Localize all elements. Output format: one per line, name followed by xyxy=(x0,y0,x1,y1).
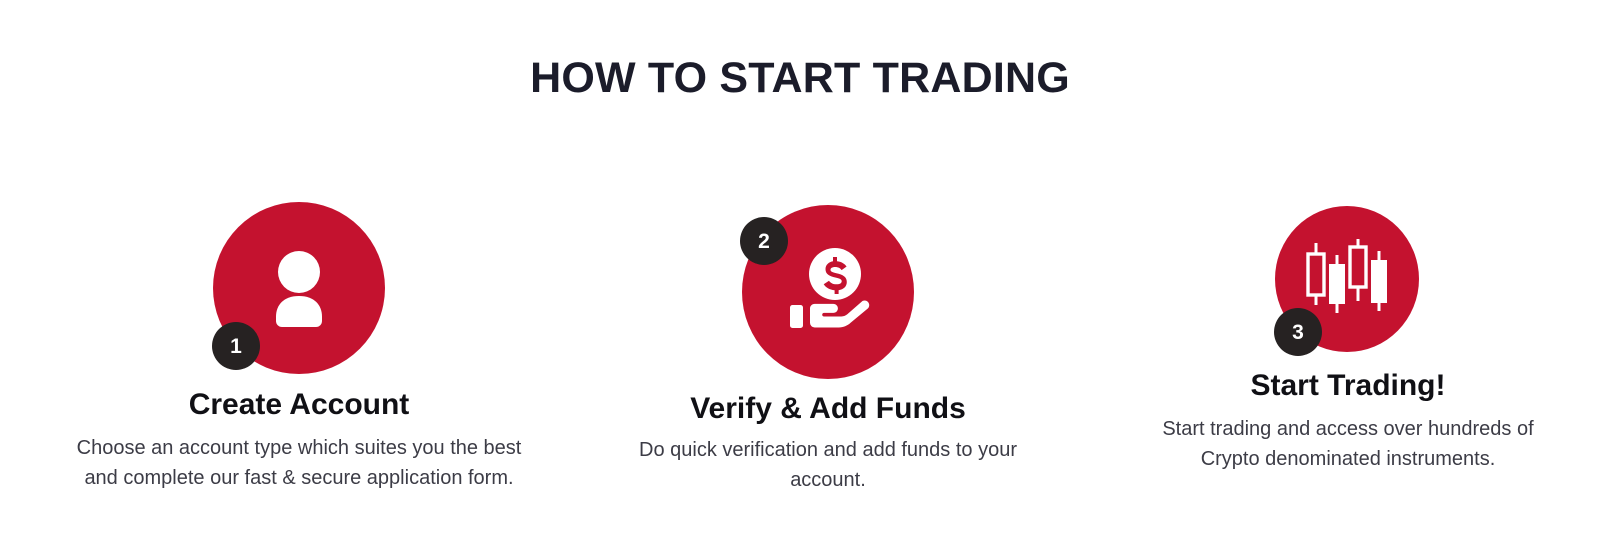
step-card-2: 2 Verify & Add Funds Do quick verificati… xyxy=(566,190,1066,495)
hand-holding-dollar-icon xyxy=(780,246,876,338)
step-3-heading: Start Trading! xyxy=(1096,368,1600,404)
step-card-3: 3 Start Trading! Start trading and acces… xyxy=(1066,190,1600,474)
user-icon xyxy=(256,245,342,331)
step-1-heading: Create Account xyxy=(32,387,566,423)
candlestick-chart-icon xyxy=(1302,239,1392,319)
how-to-start-trading-section: HOW TO START TRADING 1 Create Account Ch… xyxy=(0,0,1600,547)
step-1-icon-wrap: 1 xyxy=(213,190,385,376)
step-3-number-badge: 3 xyxy=(1274,308,1322,356)
step-1-description: Choose an account type which suites you … xyxy=(69,433,529,493)
step-2-icon-wrap: 2 xyxy=(742,190,914,380)
step-2-heading: Verify & Add Funds xyxy=(590,391,1066,427)
step-card-1: 1 Create Account Choose an account type … xyxy=(0,190,566,493)
page-title: HOW TO START TRADING xyxy=(0,52,1600,104)
step-2-description: Do quick verification and add funds to y… xyxy=(608,435,1048,495)
step-3-description: Start trading and access over hundreds o… xyxy=(1138,414,1558,474)
step-2-number-badge: 2 xyxy=(740,217,788,265)
step-1-number-badge: 1 xyxy=(212,322,260,370)
steps-row: 1 Create Account Choose an account type … xyxy=(0,190,1600,495)
step-3-icon-wrap: 3 xyxy=(1275,190,1421,356)
